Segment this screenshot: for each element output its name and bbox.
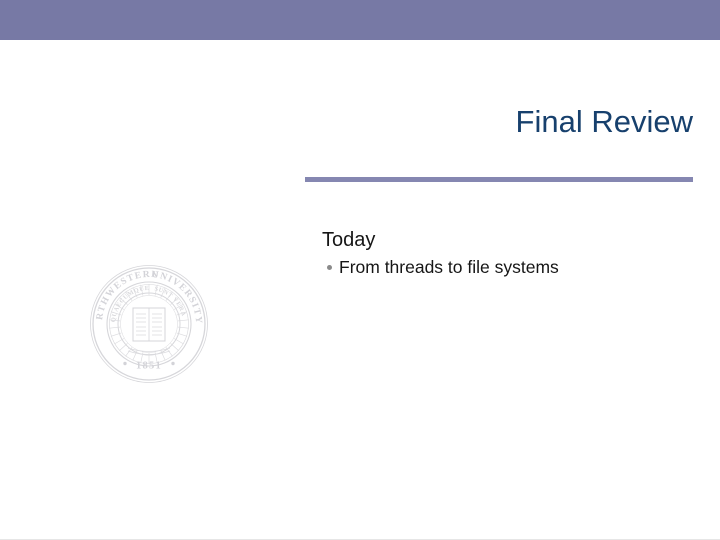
presentation-slide: Final Review Today From threads to file …	[0, 0, 720, 540]
list-item: From threads to file systems	[322, 256, 692, 278]
bullet-dot-icon	[327, 265, 332, 270]
bullet-list: From threads to file systems	[322, 256, 692, 278]
slide-body: Today From threads to file systems	[322, 228, 692, 278]
svg-text:1851: 1851	[136, 361, 162, 372]
title-divider-rule	[305, 177, 693, 182]
slide-top-banner	[0, 0, 720, 40]
page-title: Final Review	[300, 103, 693, 141]
list-item-label: From threads to file systems	[339, 257, 559, 277]
body-heading: Today	[322, 228, 692, 253]
northwestern-university-seal-icon: NORTHWESTERN UNIVERSITY QUAECUMQUE SUNT …	[89, 264, 209, 384]
